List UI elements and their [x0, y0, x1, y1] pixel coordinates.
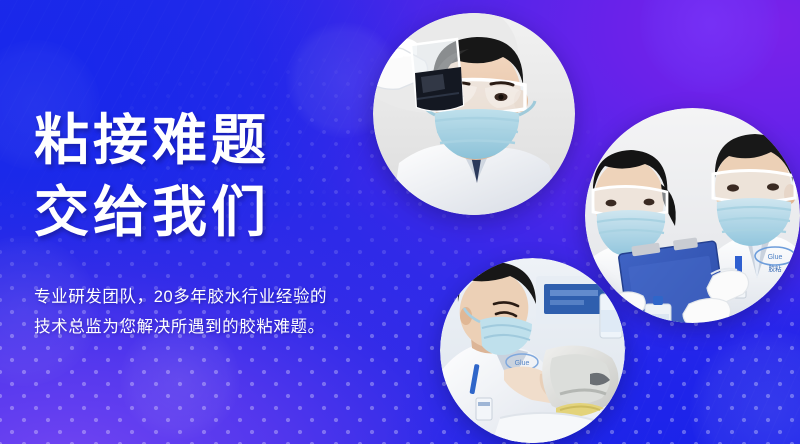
svg-text:胶粘: 胶粘: [769, 264, 783, 273]
photo-scientist-beaker: [373, 13, 575, 215]
subtitle-line-1: 专业研发团队，20多年胶水行业经验的: [34, 282, 374, 312]
text-block: 粘接难题 交给我们 专业研发团队，20多年胶水行业经验的 技术总监为您解决所遇到…: [34, 104, 374, 342]
photo-technician-bonding: Glue: [440, 258, 625, 443]
svg-text:Glue: Glue: [768, 254, 783, 261]
subtitle-block: 专业研发团队，20多年胶水行业经验的 技术总监为您解决所遇到的胶粘难题。: [34, 282, 374, 342]
headline-line-2: 交给我们: [34, 176, 374, 248]
headline-line-1: 粘接难题: [34, 104, 374, 176]
photo-two-researchers-clipboard: Glue 胶粘: [585, 108, 800, 323]
promo-banner: 粘接难题 交给我们 专业研发团队，20多年胶水行业经验的 技术总监为您解决所遇到…: [0, 0, 800, 444]
svg-text:Glue: Glue: [515, 360, 530, 367]
subtitle-line-2: 技术总监为您解决所遇到的胶粘难题。: [34, 312, 374, 342]
